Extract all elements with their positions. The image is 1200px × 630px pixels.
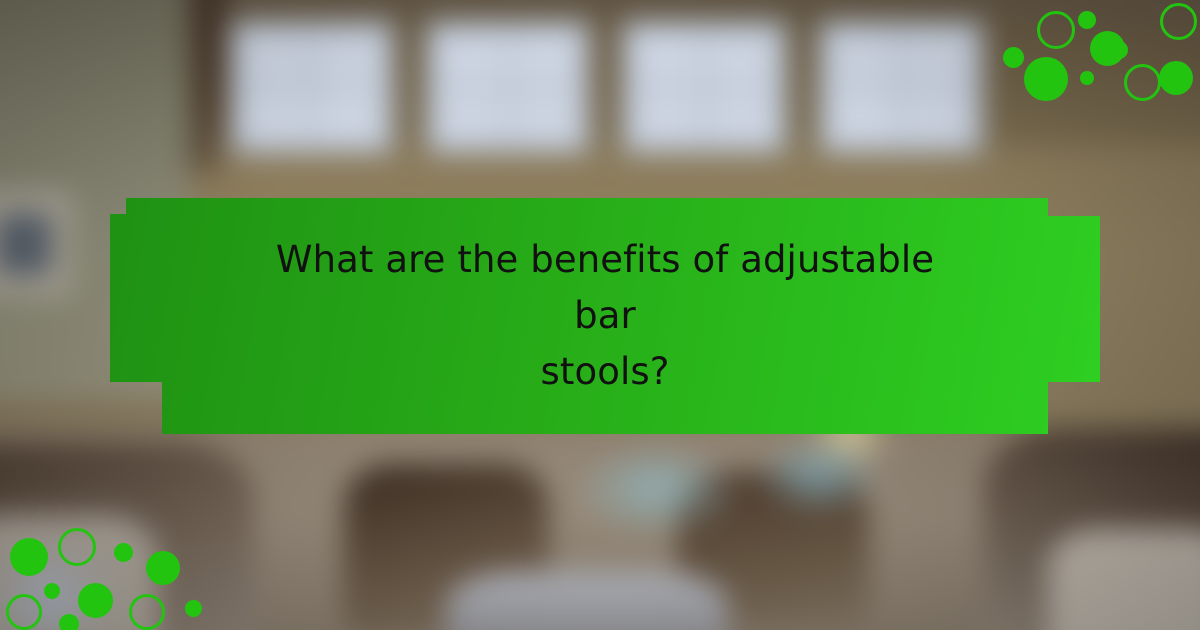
- question-line-2: stools?: [541, 350, 670, 393]
- question-banner: What are the benefits of adjustable bar …: [110, 198, 1100, 434]
- screenshot-canvas: What are the benefits of adjustable bar …: [0, 0, 1200, 630]
- question-text: What are the benefits of adjustable bar …: [245, 232, 965, 401]
- question-line-1: What are the benefits of adjustable bar: [276, 238, 934, 337]
